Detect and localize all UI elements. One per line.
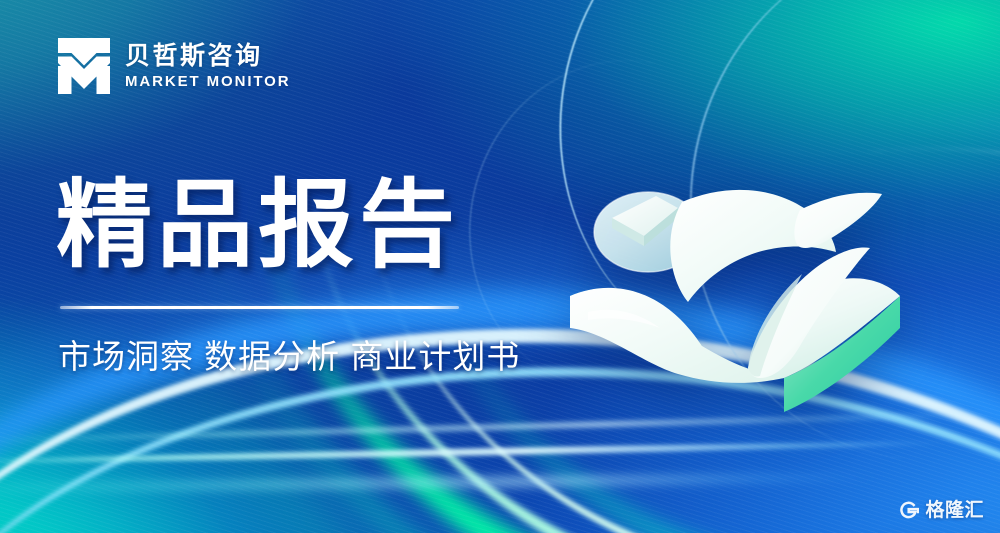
subtitle: 市场洞察 数据分析 商业计划书 (58, 330, 520, 378)
title-divider (60, 306, 459, 309)
m-monogram-icon (56, 36, 112, 96)
open-book-illustration (552, 150, 942, 450)
gelonghui-g-icon (898, 500, 919, 521)
page-title: 精品报告 (56, 176, 460, 277)
brand-logo: 贝哲斯咨询 MARKET MONITOR (56, 36, 290, 96)
watermark: 格隆汇 (898, 500, 984, 521)
report-cover-banner: 贝哲斯咨询 MARKET MONITOR 精品报告 市场洞察 数据分析 商业计划… (0, 0, 1000, 533)
watermark-text: 格隆汇 (925, 501, 984, 520)
open-book-with-magnifier-icon (552, 150, 942, 450)
rolled-page-strip (794, 193, 882, 248)
brand-logo-text: 贝哲斯咨询 MARKET MONITOR (125, 44, 290, 89)
brand-name-en: MARKET MONITOR (125, 74, 290, 89)
brand-name-cn: 贝哲斯咨询 (125, 44, 290, 69)
